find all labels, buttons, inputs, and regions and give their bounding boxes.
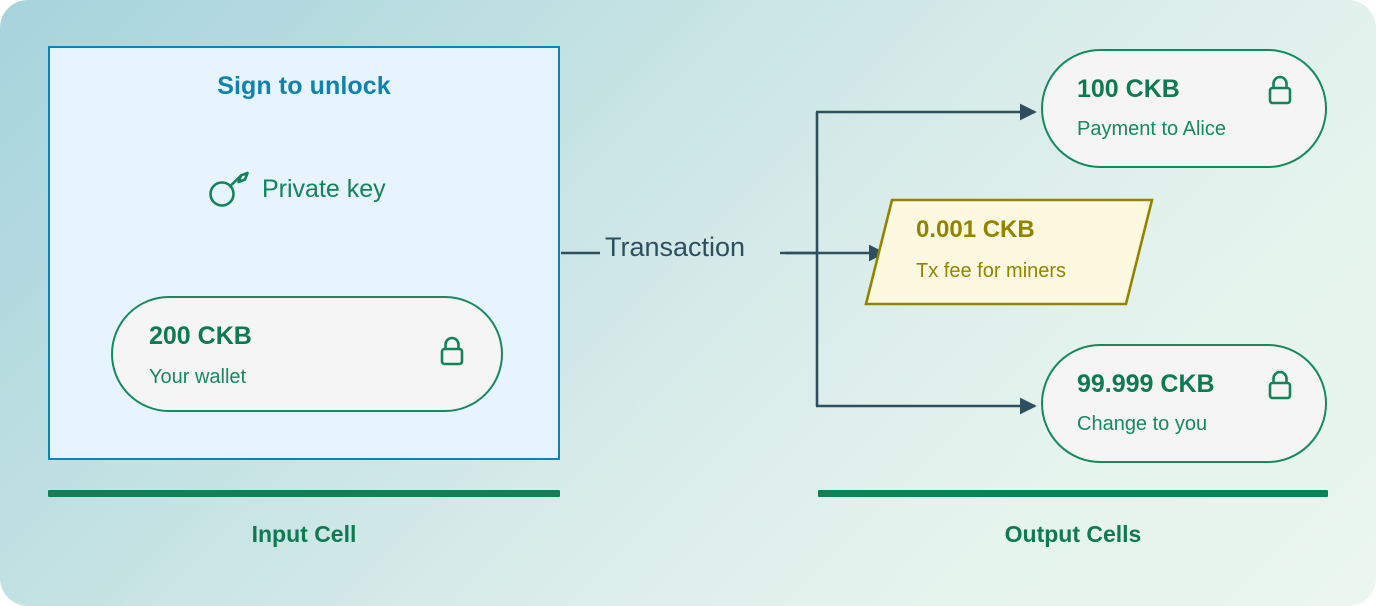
- output-cell-payment[interactable]: 100 CKB Payment to Alice: [1041, 49, 1327, 168]
- key-icon: [208, 170, 252, 208]
- diagram-canvas: Sign to unlock Private key 200 CKB Your …: [0, 0, 1376, 606]
- panel-title: Sign to unlock: [50, 72, 558, 101]
- legend-output-cells: Output Cells: [818, 490, 1328, 548]
- output-cell-change[interactable]: 99.999 CKB Change to you: [1041, 344, 1327, 463]
- output-cell-fee[interactable]: 0.001 CKB Tx fee for miners: [864, 198, 1154, 306]
- cell-description: Tx fee for miners: [916, 260, 1066, 283]
- legend-input-cell: Input Cell: [48, 490, 560, 548]
- lock-icon: [1265, 73, 1295, 112]
- cell-amount: 0.001 CKB: [916, 216, 1035, 244]
- private-key-label: Private key: [262, 177, 386, 202]
- legend-bar: [818, 490, 1328, 497]
- legend-bar: [48, 490, 560, 497]
- lock-icon: [1265, 368, 1295, 407]
- private-key-row: Private key: [208, 170, 386, 208]
- cell-description: Change to you: [1077, 413, 1207, 436]
- cell-amount: 99.999 CKB: [1077, 370, 1215, 399]
- cell-description: Your wallet: [149, 366, 246, 389]
- fee-text-group: 0.001 CKB Tx fee for miners: [864, 198, 1154, 306]
- legend-label: Output Cells: [818, 521, 1328, 548]
- transaction-label: Transaction: [605, 232, 745, 263]
- lock-icon: [437, 334, 467, 373]
- cell-amount: 100 CKB: [1077, 75, 1180, 104]
- cell-description: Payment to Alice: [1077, 118, 1226, 141]
- input-cell-wallet[interactable]: 200 CKB Your wallet: [111, 296, 503, 412]
- cell-amount: 200 CKB: [149, 322, 252, 351]
- legend-label: Input Cell: [48, 521, 560, 548]
